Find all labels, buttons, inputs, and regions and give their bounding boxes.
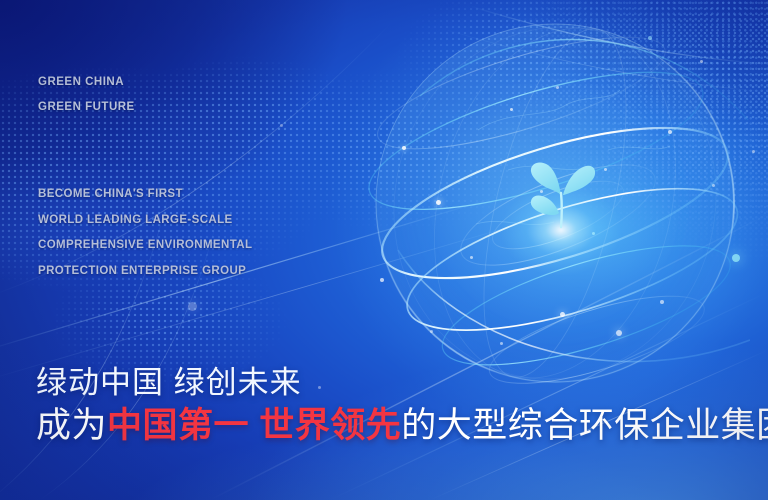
- slogan-top-line-2: GREEN FUTURE: [38, 95, 135, 120]
- slogan-main-line-3: COMPREHENSIVE ENVIRONMENTAL: [38, 233, 252, 259]
- headline-line-2-highlight: 中国第一 世界领先: [107, 406, 401, 445]
- headline-line-2-suffix: 的大型综合环保企业集团: [401, 406, 768, 445]
- promo-banner: GREEN CHINA GREEN FUTURE BECOME CHINA'S …: [0, 0, 768, 500]
- slogan-main: BECOME CHINA'S FIRST WORLD LEADING LARGE…: [38, 182, 252, 284]
- headline-line-2-prefix: 成为: [36, 406, 107, 445]
- slogan-top: GREEN CHINA GREEN FUTURE: [38, 70, 135, 120]
- headline-line-1: 绿动中国 绿创未来: [36, 362, 768, 404]
- slogan-main-line-4: PROTECTION ENTERPRISE GROUP: [38, 259, 252, 285]
- slogan-main-line-2: WORLD LEADING LARGE-SCALE: [38, 208, 252, 234]
- slogan-top-line-1: GREEN CHINA: [38, 70, 135, 95]
- headline: 绿动中国 绿创未来 成为中国第一 世界领先的大型综合环保企业集团: [36, 362, 768, 448]
- headline-line-2: 成为中国第一 世界领先的大型综合环保企业集团: [36, 404, 768, 448]
- slogan-main-line-1: BECOME CHINA'S FIRST: [38, 182, 252, 208]
